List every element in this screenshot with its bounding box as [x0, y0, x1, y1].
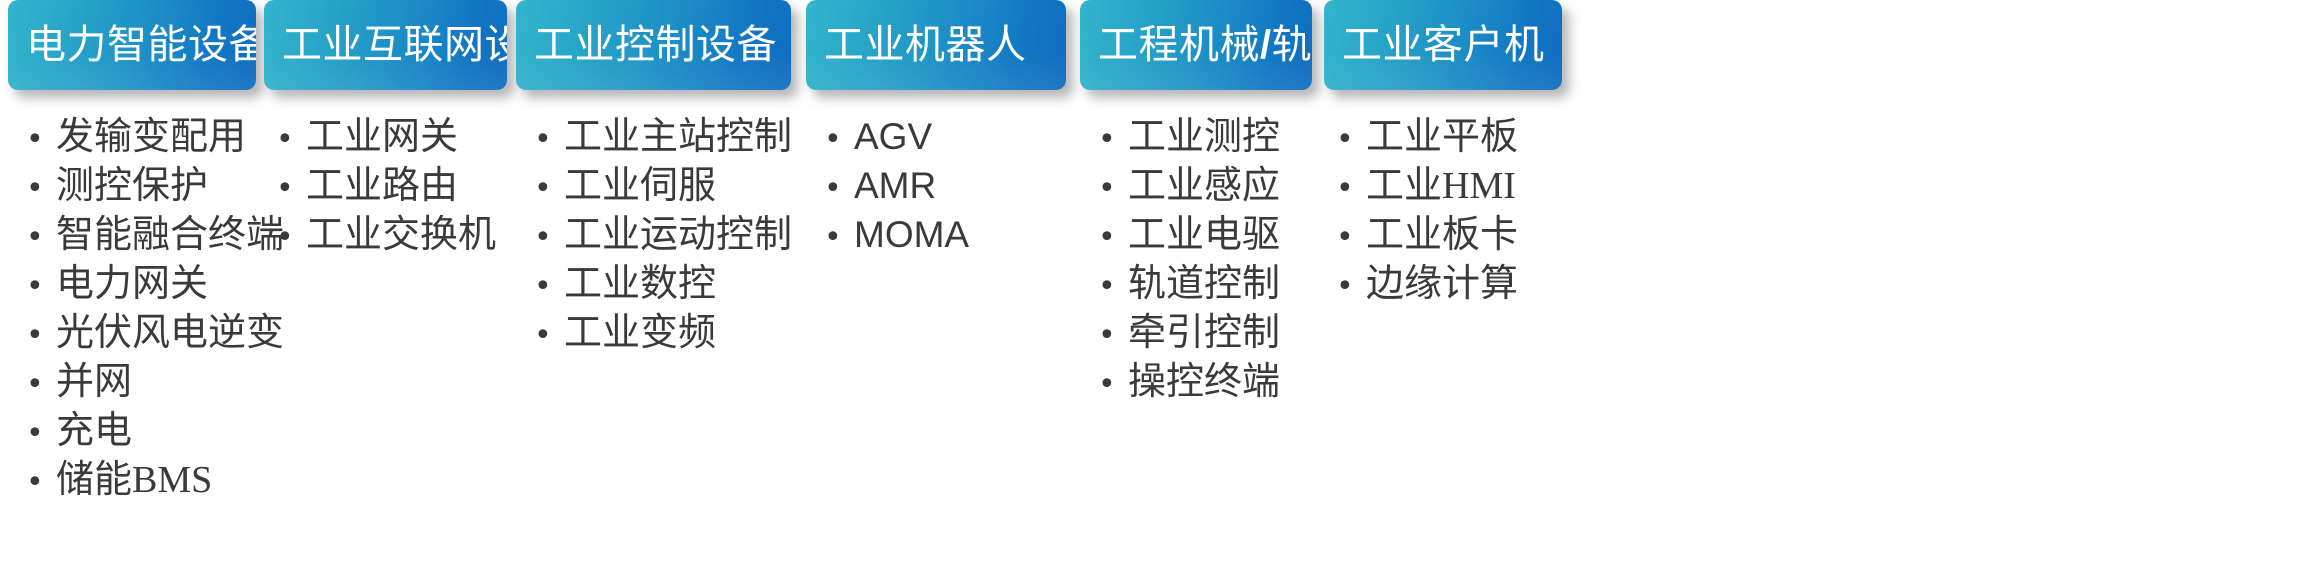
list-item-label: 测控保护	[56, 163, 256, 209]
list-item[interactable]: •测控保护	[14, 163, 256, 212]
category-column: 工业机器人•AGV•AMR•MOMA	[806, 0, 1066, 237]
category-item-list: •工业主站控制•工业伺服•工业运动控制•工业数控•工业变频	[516, 114, 791, 359]
list-item[interactable]: •操控终端	[1086, 359, 1312, 408]
list-item[interactable]: •MOMA	[812, 212, 1066, 261]
list-item[interactable]: •AGV	[812, 114, 1066, 163]
list-item[interactable]: •工业交换机	[264, 212, 507, 261]
list-item-label: 电力网关	[56, 261, 256, 307]
list-item-label: 智能融合终端	[56, 212, 284, 258]
list-item[interactable]: •工业感应	[1086, 163, 1312, 212]
category-header-2[interactable]: 工业控制设备	[516, 0, 791, 90]
list-item-label: 工业主站控制	[564, 114, 792, 160]
list-item-label: 工业测控	[1128, 114, 1312, 160]
bullet-icon: •	[14, 362, 56, 408]
category-title-part: /	[1260, 23, 1272, 67]
list-item[interactable]: •工业数控	[522, 261, 791, 310]
bullet-icon: •	[522, 166, 564, 212]
list-item[interactable]: •轨道控制	[1086, 261, 1312, 310]
bullet-icon: •	[1086, 117, 1128, 163]
category-header-5[interactable]: 工业客户机	[1324, 0, 1562, 90]
list-item-label: 轨道控制	[1128, 261, 1312, 307]
list-item-label: 工业HMI	[1366, 163, 1562, 209]
bullet-icon: •	[1324, 117, 1366, 163]
bullet-icon: •	[14, 411, 56, 457]
bullet-icon: •	[1086, 215, 1128, 261]
bullet-icon: •	[264, 215, 306, 261]
list-item[interactable]: •工业测控	[1086, 114, 1312, 163]
category-header-4[interactable]: 工程机械/轨交	[1080, 0, 1312, 90]
bullet-icon: •	[1086, 264, 1128, 310]
list-item[interactable]: •光伏风电逆变	[14, 310, 256, 359]
list-item[interactable]: •工业主站控制	[522, 114, 791, 163]
list-item[interactable]: •工业网关	[264, 114, 507, 163]
bullet-icon: •	[1086, 166, 1128, 212]
list-item-label: 操控终端	[1128, 359, 1312, 405]
bullet-icon: •	[522, 264, 564, 310]
list-item[interactable]: •工业板卡	[1324, 212, 1562, 261]
list-item[interactable]: •工业路由	[264, 163, 507, 212]
bullet-icon: •	[14, 166, 56, 212]
list-item[interactable]: •储能BMS	[14, 457, 256, 506]
device-category-board: 电力智能设备终端•发输变配用•测控保护•智能融合终端•电力网关•光伏风电逆变•并…	[0, 0, 2324, 588]
list-item-label: 工业路由	[306, 163, 507, 209]
category-column: 工业互联网设备•工业网关•工业路由•工业交换机	[264, 0, 507, 237]
bullet-icon: •	[812, 117, 854, 163]
list-item-label: 工业伺服	[564, 163, 791, 209]
bullet-icon: •	[1324, 215, 1366, 261]
list-item-label: 牵引控制	[1128, 310, 1312, 356]
bullet-icon: •	[522, 117, 564, 163]
category-column: 工程机械/轨交•工业测控•工业感应•工业电驱•轨道控制•牵引控制•操控终端	[1080, 0, 1312, 384]
list-item-label: 并网	[56, 359, 256, 405]
bullet-icon: •	[1324, 166, 1366, 212]
category-header-0[interactable]: 电力智能设备终端	[8, 0, 256, 90]
category-title: 工业控制设备	[516, 25, 777, 65]
category-column: 电力智能设备终端•发输变配用•测控保护•智能融合终端•电力网关•光伏风电逆变•并…	[8, 0, 256, 482]
bullet-icon: •	[1086, 313, 1128, 359]
bullet-icon: •	[1086, 362, 1128, 408]
list-item-label: 储能BMS	[56, 457, 256, 503]
list-item[interactable]: •并网	[14, 359, 256, 408]
list-item-label: 工业平板	[1366, 114, 1562, 160]
bullet-icon: •	[14, 215, 56, 261]
list-item-label: 工业电驱	[1128, 212, 1312, 258]
category-title: 工业客户机	[1324, 25, 1545, 65]
list-item[interactable]: •工业变频	[522, 310, 791, 359]
list-item[interactable]: •电力网关	[14, 261, 256, 310]
list-item-label: 发输变配用	[56, 114, 256, 160]
list-item[interactable]: •工业平板	[1324, 114, 1562, 163]
list-item-label: 工业网关	[306, 114, 507, 160]
list-item[interactable]: •智能融合终端	[14, 212, 256, 261]
category-title-part: 轨交	[1272, 22, 1312, 67]
bullet-icon: •	[522, 313, 564, 359]
list-item-label: 边缘计算	[1366, 261, 1562, 307]
bullet-icon: •	[14, 264, 56, 310]
category-header-3[interactable]: 工业机器人	[806, 0, 1066, 90]
list-item-label: 工业交换机	[306, 212, 507, 258]
list-item[interactable]: •工业运动控制	[522, 212, 791, 261]
list-item-label: 充电	[56, 408, 256, 454]
list-item[interactable]: •边缘计算	[1324, 261, 1562, 310]
category-item-list: •发输变配用•测控保护•智能融合终端•电力网关•光伏风电逆变•并网•充电•储能B…	[8, 114, 256, 506]
bullet-icon: •	[1324, 264, 1366, 310]
category-item-list: •工业测控•工业感应•工业电驱•轨道控制•牵引控制•操控终端	[1080, 114, 1312, 408]
list-item-label: 光伏风电逆变	[56, 310, 284, 356]
category-header-1[interactable]: 工业互联网设备	[264, 0, 507, 90]
list-item-label: 工业板卡	[1366, 212, 1562, 258]
list-item-label: MOMA	[854, 212, 1066, 258]
category-item-list: •工业网关•工业路由•工业交换机	[264, 114, 507, 261]
list-item-label: AGV	[854, 114, 1066, 160]
bullet-icon: •	[264, 117, 306, 163]
category-title: 工业机器人	[806, 25, 1027, 65]
list-item[interactable]: •工业HMI	[1324, 163, 1562, 212]
list-item[interactable]: •发输变配用	[14, 114, 256, 163]
list-item[interactable]: •充电	[14, 408, 256, 457]
list-item-label: 工业变频	[564, 310, 791, 356]
category-title-part: 工程机械	[1098, 22, 1260, 67]
list-item-label: AMR	[854, 163, 1066, 209]
list-item[interactable]: •工业伺服	[522, 163, 791, 212]
category-title: 工业互联网设备	[264, 25, 507, 65]
category-item-list: •AGV•AMR•MOMA	[806, 114, 1066, 261]
category-column: 工业客户机•工业平板•工业HMI•工业板卡•边缘计算	[1324, 0, 1562, 286]
list-item[interactable]: •AMR	[812, 163, 1066, 212]
bullet-icon: •	[264, 166, 306, 212]
category-column: 工业控制设备•工业主站控制•工业伺服•工业运动控制•工业数控•工业变频	[516, 0, 791, 335]
list-item-label: 工业数控	[564, 261, 791, 307]
bullet-icon: •	[14, 313, 56, 359]
list-item-label: 工业运动控制	[564, 212, 792, 258]
bullet-icon: •	[522, 215, 564, 261]
list-item-label: 工业感应	[1128, 163, 1312, 209]
category-item-list: •工业平板•工业HMI•工业板卡•边缘计算	[1324, 114, 1562, 310]
list-item[interactable]: •牵引控制	[1086, 310, 1312, 359]
bullet-icon: •	[14, 117, 56, 163]
list-item[interactable]: •工业电驱	[1086, 212, 1312, 261]
bullet-icon: •	[14, 460, 56, 506]
category-title: 电力智能设备终端	[8, 25, 256, 65]
bullet-icon: •	[812, 166, 854, 212]
bullet-icon: •	[812, 215, 854, 261]
category-title: 工程机械/轨交	[1080, 25, 1312, 65]
